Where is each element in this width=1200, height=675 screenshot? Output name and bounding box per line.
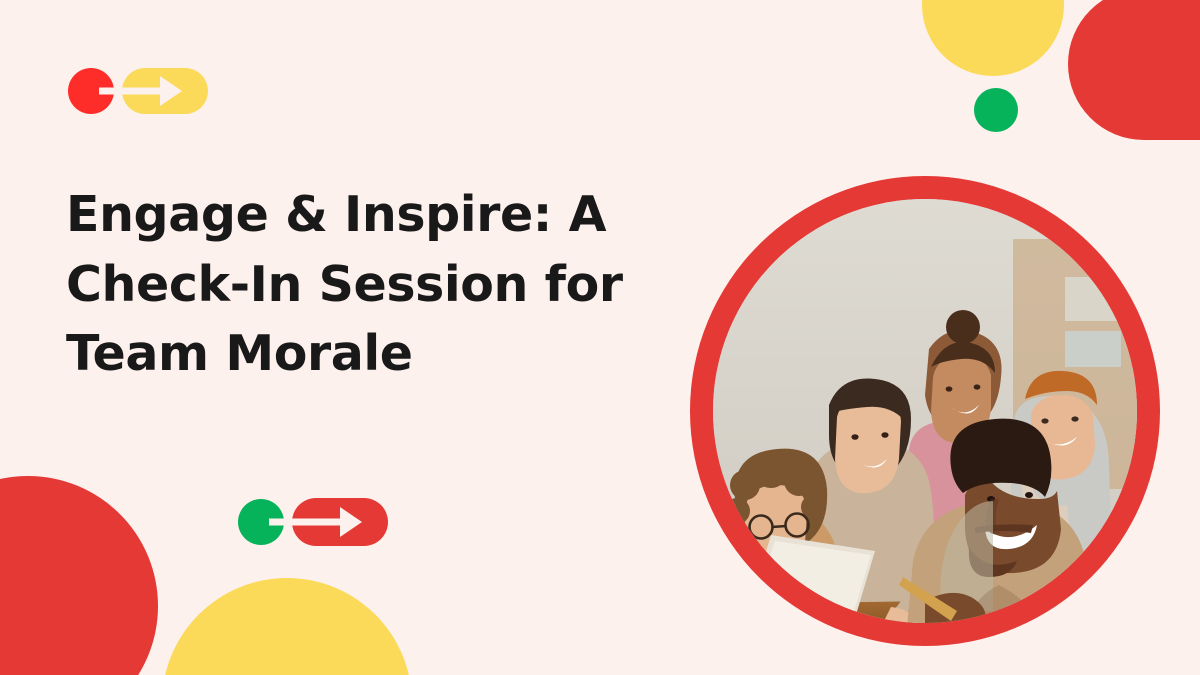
arrow-shaft-icon [280, 519, 342, 526]
brand-logo-bottom-left [238, 498, 388, 546]
team-photo [713, 199, 1137, 623]
brand-logo-top-left [68, 68, 208, 114]
slide-canvas: Engage & Inspire: A Check-In Session for… [0, 0, 1200, 675]
arrow-head-icon [160, 76, 182, 106]
team-photo-ring [690, 176, 1160, 646]
red-blob-bottom-left-decoration [0, 476, 158, 675]
team-photo-illustration [713, 199, 1137, 623]
red-blob-top-right-decoration [1068, 0, 1200, 140]
yellow-circle-top-decoration [922, 0, 1064, 76]
green-dot-decoration [974, 88, 1018, 132]
logo-circle-icon [238, 499, 284, 545]
arrow-head-icon [340, 507, 362, 537]
logo-arrow-pill-icon [292, 498, 388, 546]
logo-circle-icon [68, 68, 114, 114]
page-title: Engage & Inspire: A Check-In Session for… [66, 180, 626, 389]
yellow-circle-bottom-decoration [162, 578, 412, 675]
laptop [731, 535, 877, 623]
arrow-shaft-icon [110, 88, 162, 95]
logo-arrow-pill-icon [122, 68, 208, 114]
